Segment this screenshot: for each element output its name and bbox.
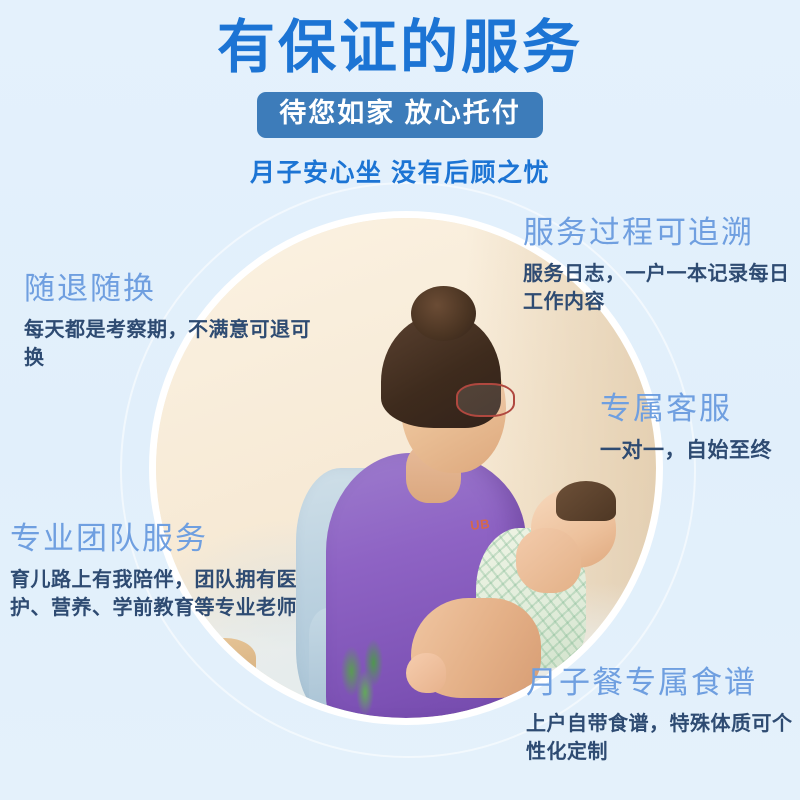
photo-basket — [186, 638, 256, 683]
feature-traceable-process: 服务过程可追溯 服务日志，一户一本记录每日工作内容 — [523, 216, 793, 317]
badge-row: 待您如家 放心托付 — [0, 92, 800, 138]
tagline: 月子安心坐 没有后顾之忧 — [0, 153, 800, 189]
feature-body: 育儿路上有我陪伴，团队拥有医护、营养、学前教育等专业老师 — [10, 566, 320, 623]
feature-body: 一对一，自始至终 — [600, 436, 800, 466]
baby-hair — [556, 481, 616, 521]
caregiver-hair-bun — [411, 286, 476, 341]
photo-plant — [326, 633, 411, 718]
page-title: 有保证的服务 — [0, 0, 800, 79]
feature-return-exchange: 随退随换 每天都是考察期，不满意可退可换 — [24, 272, 324, 373]
feature-professional-team: 专业团队服务 育儿路上有我陪伴，团队拥有医护、营养、学前教育等专业老师 — [10, 522, 320, 623]
feature-heading: 随退随换 — [24, 272, 324, 306]
feature-confinement-meal: 月子餐专属食谱 上户自带食谱，特殊体质可个性化定制 — [526, 666, 800, 767]
feature-body: 上户自带食谱，特殊体质可个性化定制 — [526, 710, 800, 767]
caregiver-glasses — [456, 383, 515, 417]
feature-heading: 专属客服 — [600, 392, 800, 426]
feature-heading: 专业团队服务 — [10, 522, 320, 556]
poster-root: 有保证的服务 待您如家 放心托付 月子安心坐 没有后顾之忧 UB — [0, 0, 800, 800]
header: 有保证的服务 待您如家 放心托付 月子安心坐 没有后顾之忧 — [0, 0, 800, 189]
feature-heading: 月子餐专属食谱 — [526, 666, 800, 700]
feature-dedicated-support: 专属客服 一对一，自始至终 — [600, 392, 800, 466]
feature-body: 服务日志，一户一本记录每日工作内容 — [523, 260, 793, 317]
slogan-badge: 待您如家 放心托付 — [257, 92, 543, 138]
baby-foot — [406, 653, 446, 693]
feature-body: 每天都是考察期，不满意可退可换 — [24, 316, 324, 373]
feature-heading: 服务过程可追溯 — [523, 216, 793, 250]
caregiver-hand — [516, 528, 581, 593]
